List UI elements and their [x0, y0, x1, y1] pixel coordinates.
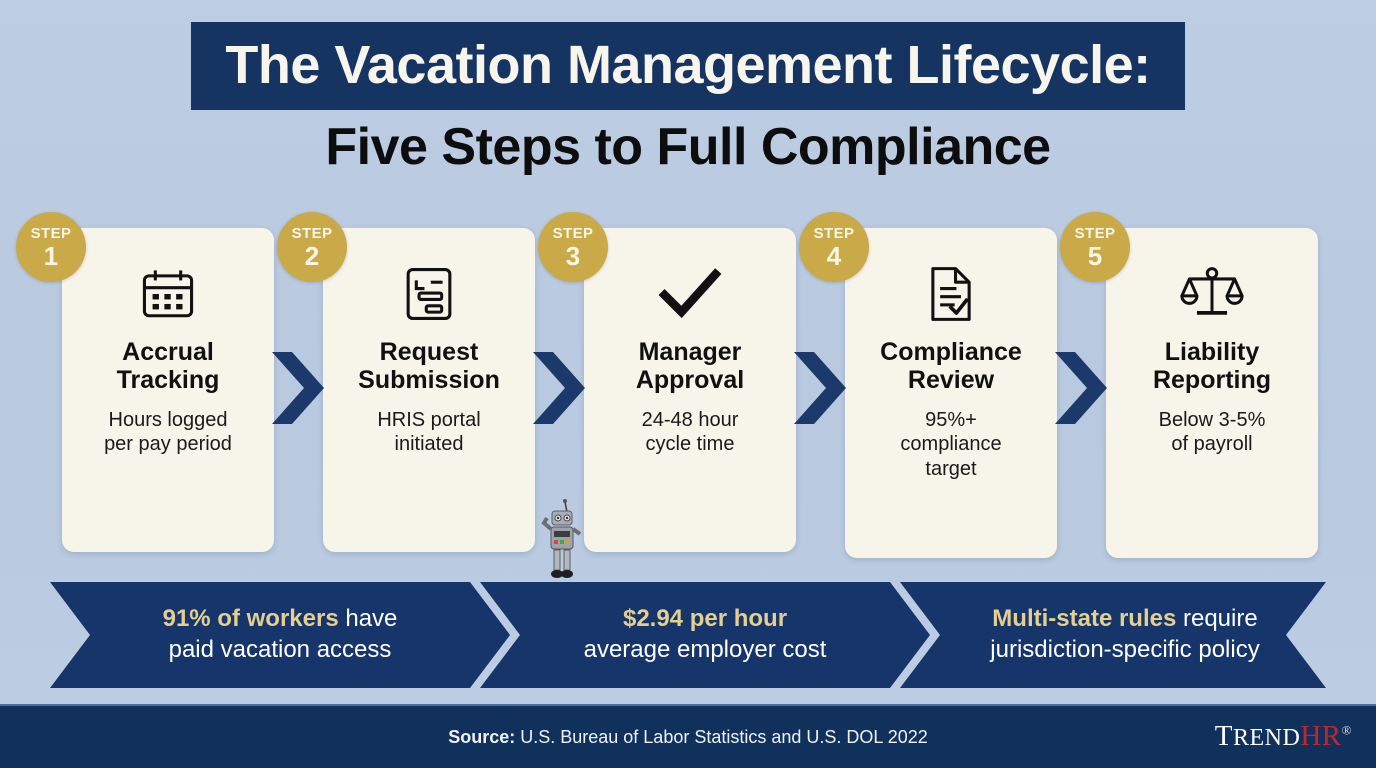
calendar-icon [72, 262, 264, 326]
stat-line-2a: $2.94 per hour [623, 604, 787, 635]
steps-row: STEP 1 Accrual Tracking Hours logged per… [0, 228, 1376, 568]
scales-balance-icon [1116, 262, 1308, 326]
step-card-5[interactable]: STEP 5 Liability Reporting Below 3-5% of… [1106, 228, 1318, 558]
step-subtitle-2: HRIS portal initiated [333, 408, 525, 457]
step-badge-2: STEP 2 [277, 212, 347, 282]
step-title-5: Liability Reporting [1116, 338, 1308, 394]
step-subtitle-5: Below 3-5% of payroll [1116, 408, 1308, 457]
step-badge-word-1: STEP [31, 226, 72, 241]
logo-registered-icon: ® [1342, 722, 1352, 737]
step-card-2[interactable]: STEP 2 Request Submission HRIS portal in… [323, 228, 535, 552]
chevron-right-icon [1053, 350, 1109, 426]
stat-rest-3: require [1176, 605, 1257, 632]
step-title-3: Manager Approval [594, 338, 786, 394]
robot-mascot-icon [540, 498, 582, 582]
source-text: U.S. Bureau of Labor Statistics and U.S.… [520, 727, 928, 748]
title-line-2: Five Steps to Full Compliance [0, 120, 1376, 175]
step-badge-3: STEP 3 [538, 212, 608, 282]
step-badge-number-2: 2 [305, 243, 319, 269]
stat-highlight-1: 91% of workers [163, 605, 339, 632]
chevron-right-icon [270, 350, 326, 426]
step-card-1[interactable]: STEP 1 Accrual Tracking Hours logged per… [62, 228, 274, 552]
step-title-4: Compliance Review [855, 338, 1047, 394]
logo-trend: TREND [1215, 720, 1301, 752]
stat-line-3b: jurisdiction-specific policy [990, 635, 1259, 666]
step-badge-5: STEP 5 [1060, 212, 1130, 282]
stat-highlight-3: Multi-state rules [992, 605, 1176, 632]
step-badge-number-4: 4 [827, 243, 841, 269]
stat-line-3a: Multi-state rules require [992, 604, 1257, 635]
source-attribution: Source: U.S. Bureau of Labor Statistics … [0, 706, 1376, 768]
step-badge-word-3: STEP [553, 226, 594, 241]
stats-banner: 91% of workers have paid vacation access… [50, 582, 1326, 688]
footer-bar: Source: U.S. Bureau of Labor Statistics … [0, 704, 1376, 768]
stat-item-3: Multi-state rules require jurisdiction-s… [940, 582, 1310, 688]
step-title-2: Request Submission [333, 338, 525, 394]
step-badge-4: STEP 4 [799, 212, 869, 282]
step-subtitle-3: 24-48 hour cycle time [594, 408, 786, 457]
chevron-right-icon [792, 350, 848, 426]
form-document-icon [333, 262, 525, 326]
trendhr-logo[interactable]: TRENDHR® [1215, 720, 1352, 753]
stat-highlight-2: $2.94 per hour [623, 605, 787, 632]
step-badge-word-2: STEP [292, 226, 333, 241]
step-subtitle-4: 95%+ compliance target [855, 408, 1047, 481]
stat-line-1b: paid vacation access [169, 635, 392, 666]
step-card-4[interactable]: STEP 4 Compliance Review 95%+ compliance… [845, 228, 1057, 558]
logo-hr: HR [1300, 720, 1341, 752]
stat-rest-1: have [339, 605, 398, 632]
step-badge-number-5: 5 [1088, 243, 1102, 269]
step-title-1: Accrual Tracking [72, 338, 264, 394]
stat-line-2b: average employer cost [584, 635, 827, 666]
step-badge-number-1: 1 [44, 243, 58, 269]
page-title: The Vacation Management Lifecycle: Five … [0, 22, 1376, 175]
title-line-1: The Vacation Management Lifecycle: [191, 22, 1184, 110]
step-badge-word-4: STEP [814, 226, 855, 241]
step-badge-word-5: STEP [1075, 226, 1116, 241]
stat-item-1: 91% of workers have paid vacation access [90, 582, 470, 688]
checkmark-icon [594, 262, 786, 326]
step-card-3[interactable]: STEP 3 Manager Approval 24-48 hour cycle… [584, 228, 796, 552]
step-badge-1: STEP 1 [16, 212, 86, 282]
source-label: Source: [448, 727, 515, 748]
stat-line-1a: 91% of workers have [163, 604, 398, 635]
chevron-right-icon [531, 350, 587, 426]
stat-item-2: $2.94 per hour average employer cost [520, 582, 890, 688]
document-check-icon [855, 262, 1047, 326]
step-badge-number-3: 3 [566, 243, 580, 269]
step-subtitle-1: Hours logged per pay period [72, 408, 264, 457]
